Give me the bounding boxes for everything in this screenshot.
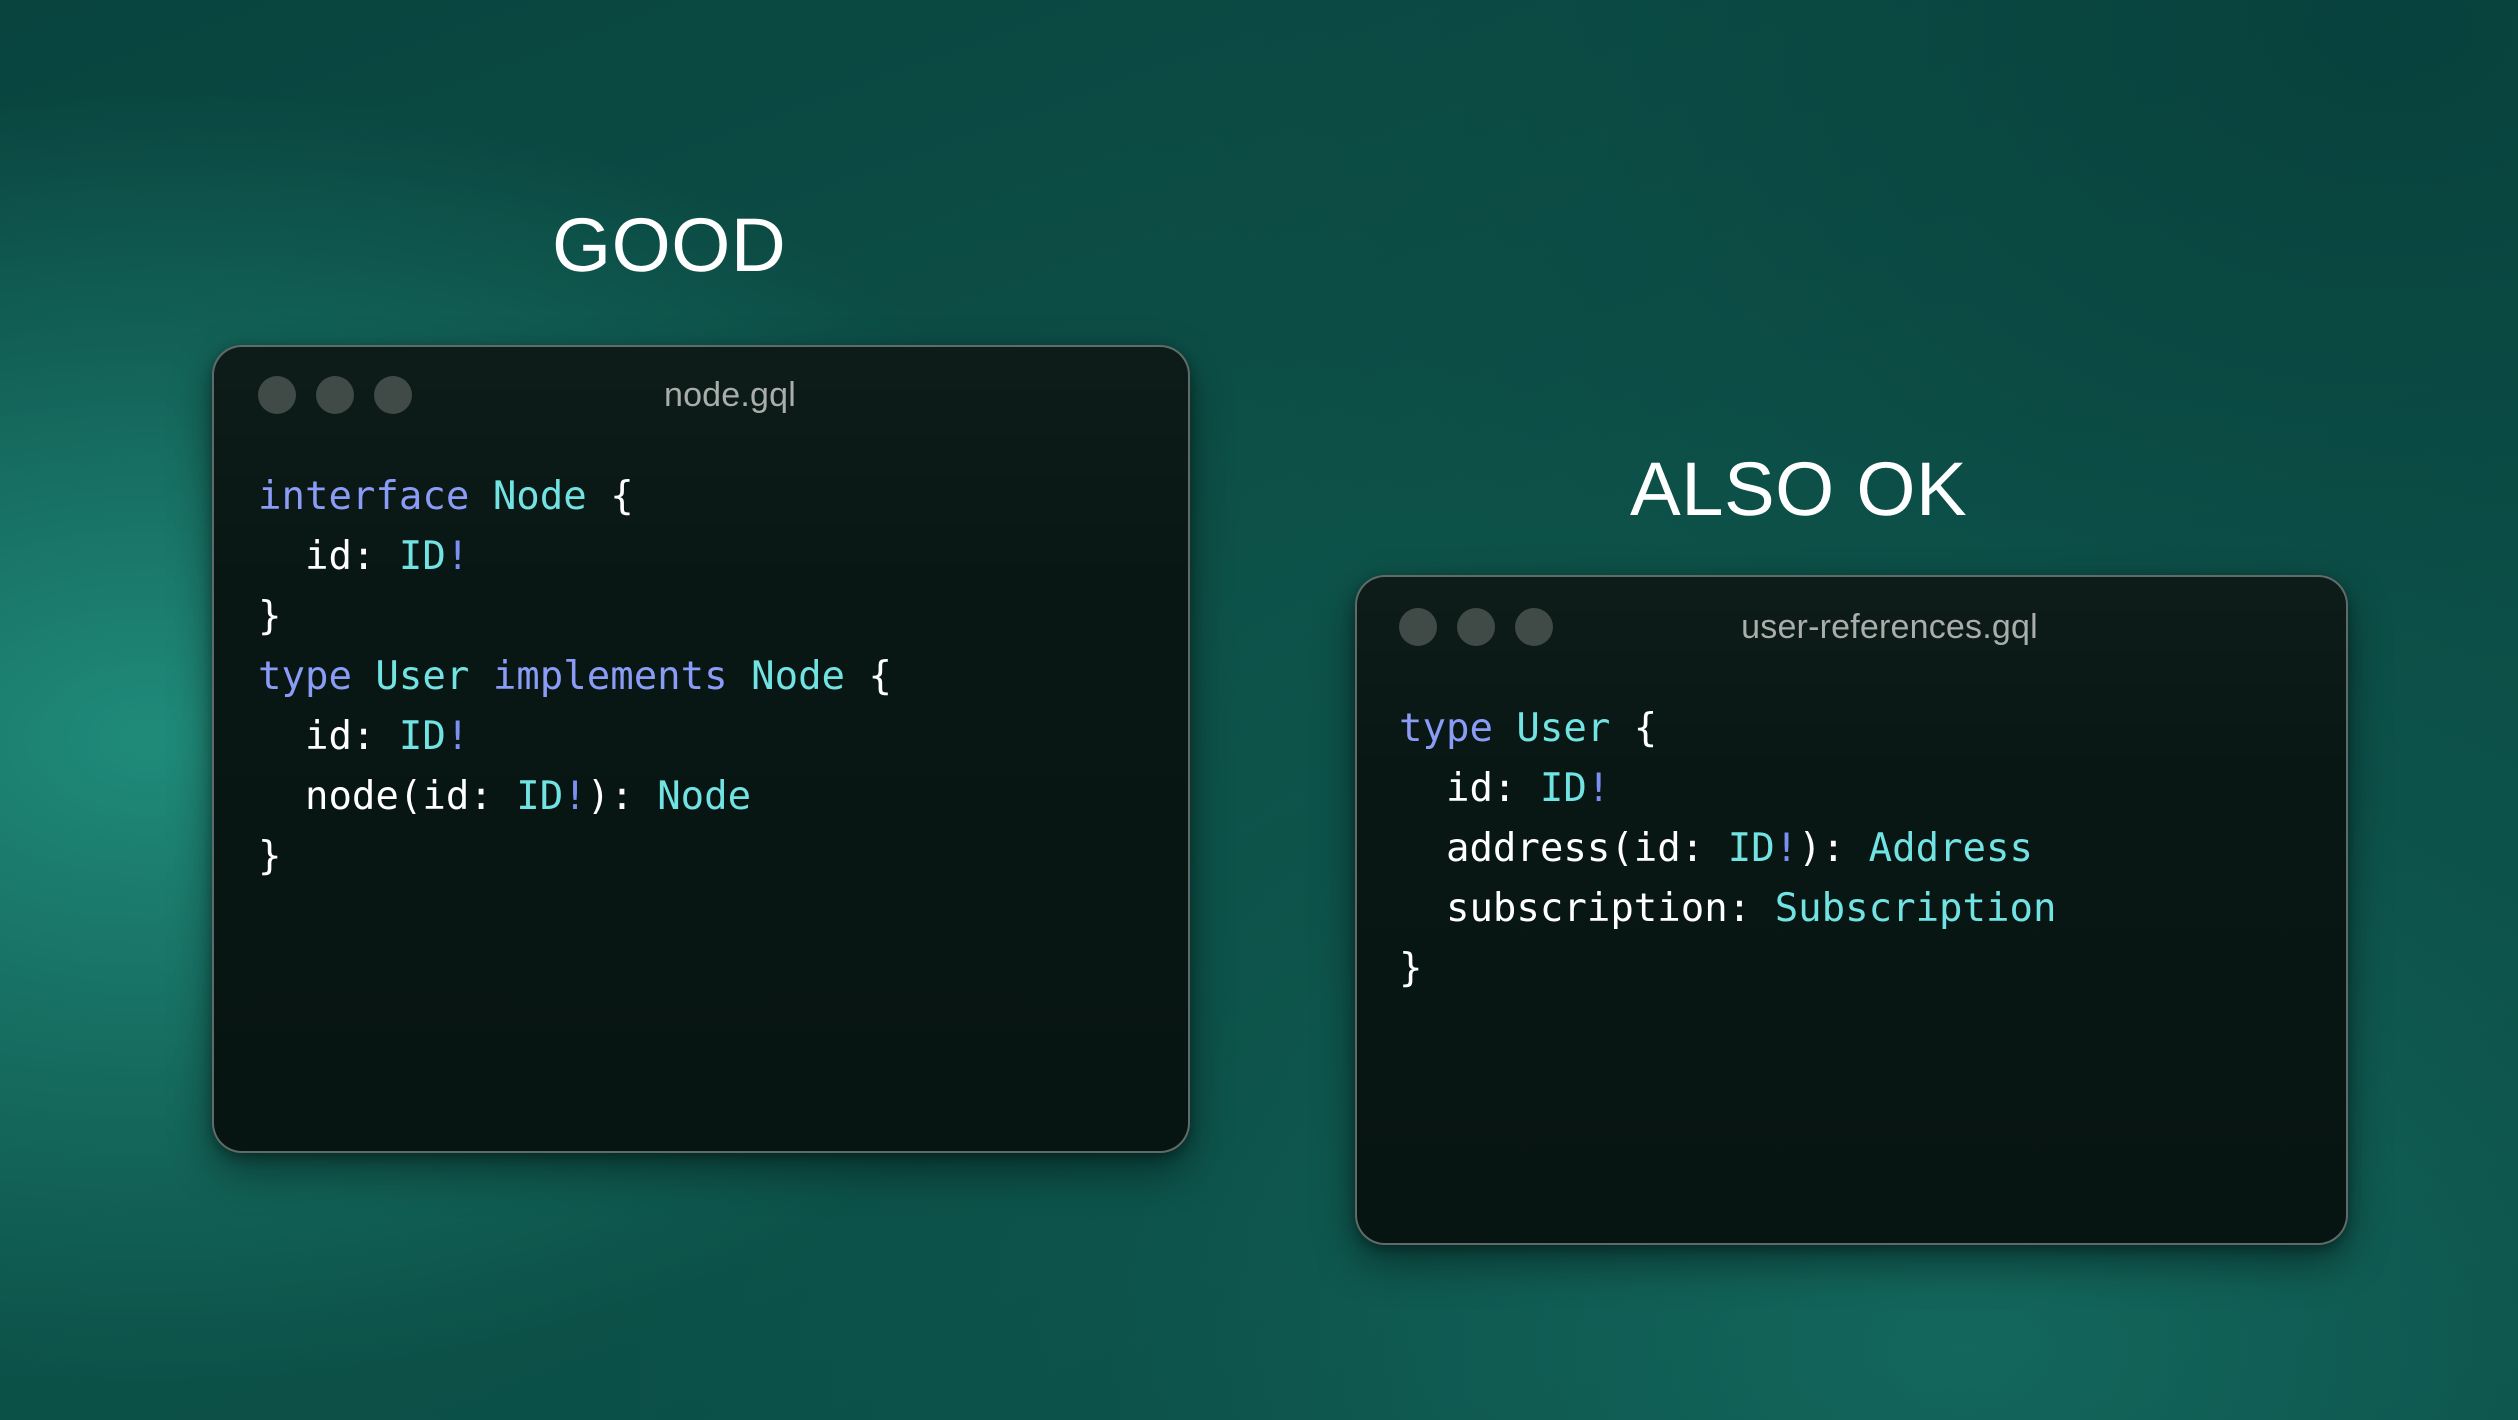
traffic-light-dot[interactable] bbox=[258, 376, 296, 414]
code-token-plain: { bbox=[845, 654, 892, 699]
code-block: type User { id: ID! address(id: ID!): Ad… bbox=[1357, 677, 2346, 999]
code-token-plain: id: bbox=[1399, 766, 1540, 811]
traffic-lights bbox=[258, 376, 412, 414]
code-token-type: Subscription bbox=[1775, 886, 2057, 931]
code-token-type: ID bbox=[1728, 826, 1775, 871]
code-line: interface Node { bbox=[258, 467, 1188, 527]
code-line: id: ID! bbox=[1399, 759, 2346, 819]
traffic-lights bbox=[1399, 608, 1553, 646]
window-titlebar: user-references.gql bbox=[1357, 577, 2346, 677]
code-token-plain: { bbox=[1610, 706, 1657, 751]
code-token-plain: } bbox=[258, 594, 281, 639]
traffic-light-dot[interactable] bbox=[1515, 608, 1553, 646]
code-token-type: Node bbox=[657, 774, 751, 819]
code-token-kw: interface bbox=[258, 474, 469, 519]
code-line: type User { bbox=[1399, 699, 2346, 759]
section-heading-good: GOOD bbox=[552, 208, 786, 284]
code-line: } bbox=[258, 827, 1188, 887]
code-token-plain: id: bbox=[258, 534, 399, 579]
window-filename: node.gql bbox=[412, 376, 1048, 415]
code-line: address(id: ID!): Address bbox=[1399, 819, 2346, 879]
code-token-type: Node bbox=[493, 474, 587, 519]
code-token-plain bbox=[352, 654, 375, 699]
code-token-plain: { bbox=[587, 474, 634, 519]
code-token-plain bbox=[469, 474, 492, 519]
code-token-plain bbox=[469, 654, 492, 699]
traffic-light-dot[interactable] bbox=[316, 376, 354, 414]
code-token-bang: ! bbox=[1775, 826, 1798, 871]
code-line: } bbox=[258, 587, 1188, 647]
code-token-type: ID bbox=[399, 714, 446, 759]
code-line: type User implements Node { bbox=[258, 647, 1188, 707]
window-titlebar: node.gql bbox=[214, 347, 1188, 443]
code-token-plain bbox=[1493, 706, 1516, 751]
slide-canvas: GOOD node.gql interface Node { id: ID!}t… bbox=[0, 0, 2518, 1420]
code-line: node(id: ID!): Node bbox=[258, 767, 1188, 827]
code-line: id: ID! bbox=[258, 707, 1188, 767]
window-filename: user-references.gql bbox=[1553, 608, 2226, 647]
code-token-type: User bbox=[1516, 706, 1610, 751]
traffic-light-dot[interactable] bbox=[374, 376, 412, 414]
code-token-bang: ! bbox=[446, 714, 469, 759]
traffic-light-dot[interactable] bbox=[1399, 608, 1437, 646]
code-line: } bbox=[1399, 939, 2346, 999]
section-heading-also-ok: ALSO OK bbox=[1630, 452, 1967, 528]
code-token-plain: ): bbox=[1798, 826, 1868, 871]
code-token-plain: address(id: bbox=[1399, 826, 1728, 871]
code-token-type: ID bbox=[1540, 766, 1587, 811]
code-window-also-ok: user-references.gql type User { id: ID! … bbox=[1355, 575, 2348, 1245]
code-token-plain: ): bbox=[587, 774, 657, 819]
code-token-bang: ! bbox=[563, 774, 586, 819]
code-token-bang: ! bbox=[446, 534, 469, 579]
code-token-plain bbox=[728, 654, 751, 699]
code-token-type: Address bbox=[1869, 826, 2033, 871]
code-token-kw: type bbox=[258, 654, 352, 699]
code-line: subscription: Subscription bbox=[1399, 879, 2346, 939]
code-token-plain: node(id: bbox=[258, 774, 516, 819]
code-token-type: ID bbox=[516, 774, 563, 819]
traffic-light-dot[interactable] bbox=[1457, 608, 1495, 646]
code-window-good: node.gql interface Node { id: ID!}type U… bbox=[212, 345, 1190, 1153]
code-token-kw: type bbox=[1399, 706, 1493, 751]
code-token-type: Node bbox=[751, 654, 845, 699]
code-token-plain: } bbox=[258, 834, 281, 879]
code-token-plain: id: bbox=[258, 714, 399, 759]
code-block: interface Node { id: ID!}type User imple… bbox=[214, 443, 1188, 887]
code-token-plain: } bbox=[1399, 946, 1422, 991]
code-line: id: ID! bbox=[258, 527, 1188, 587]
code-token-bang: ! bbox=[1587, 766, 1610, 811]
code-token-type: User bbox=[375, 654, 469, 699]
code-token-plain: subscription: bbox=[1399, 886, 1775, 931]
code-token-kw: implements bbox=[493, 654, 728, 699]
code-token-type: ID bbox=[399, 534, 446, 579]
